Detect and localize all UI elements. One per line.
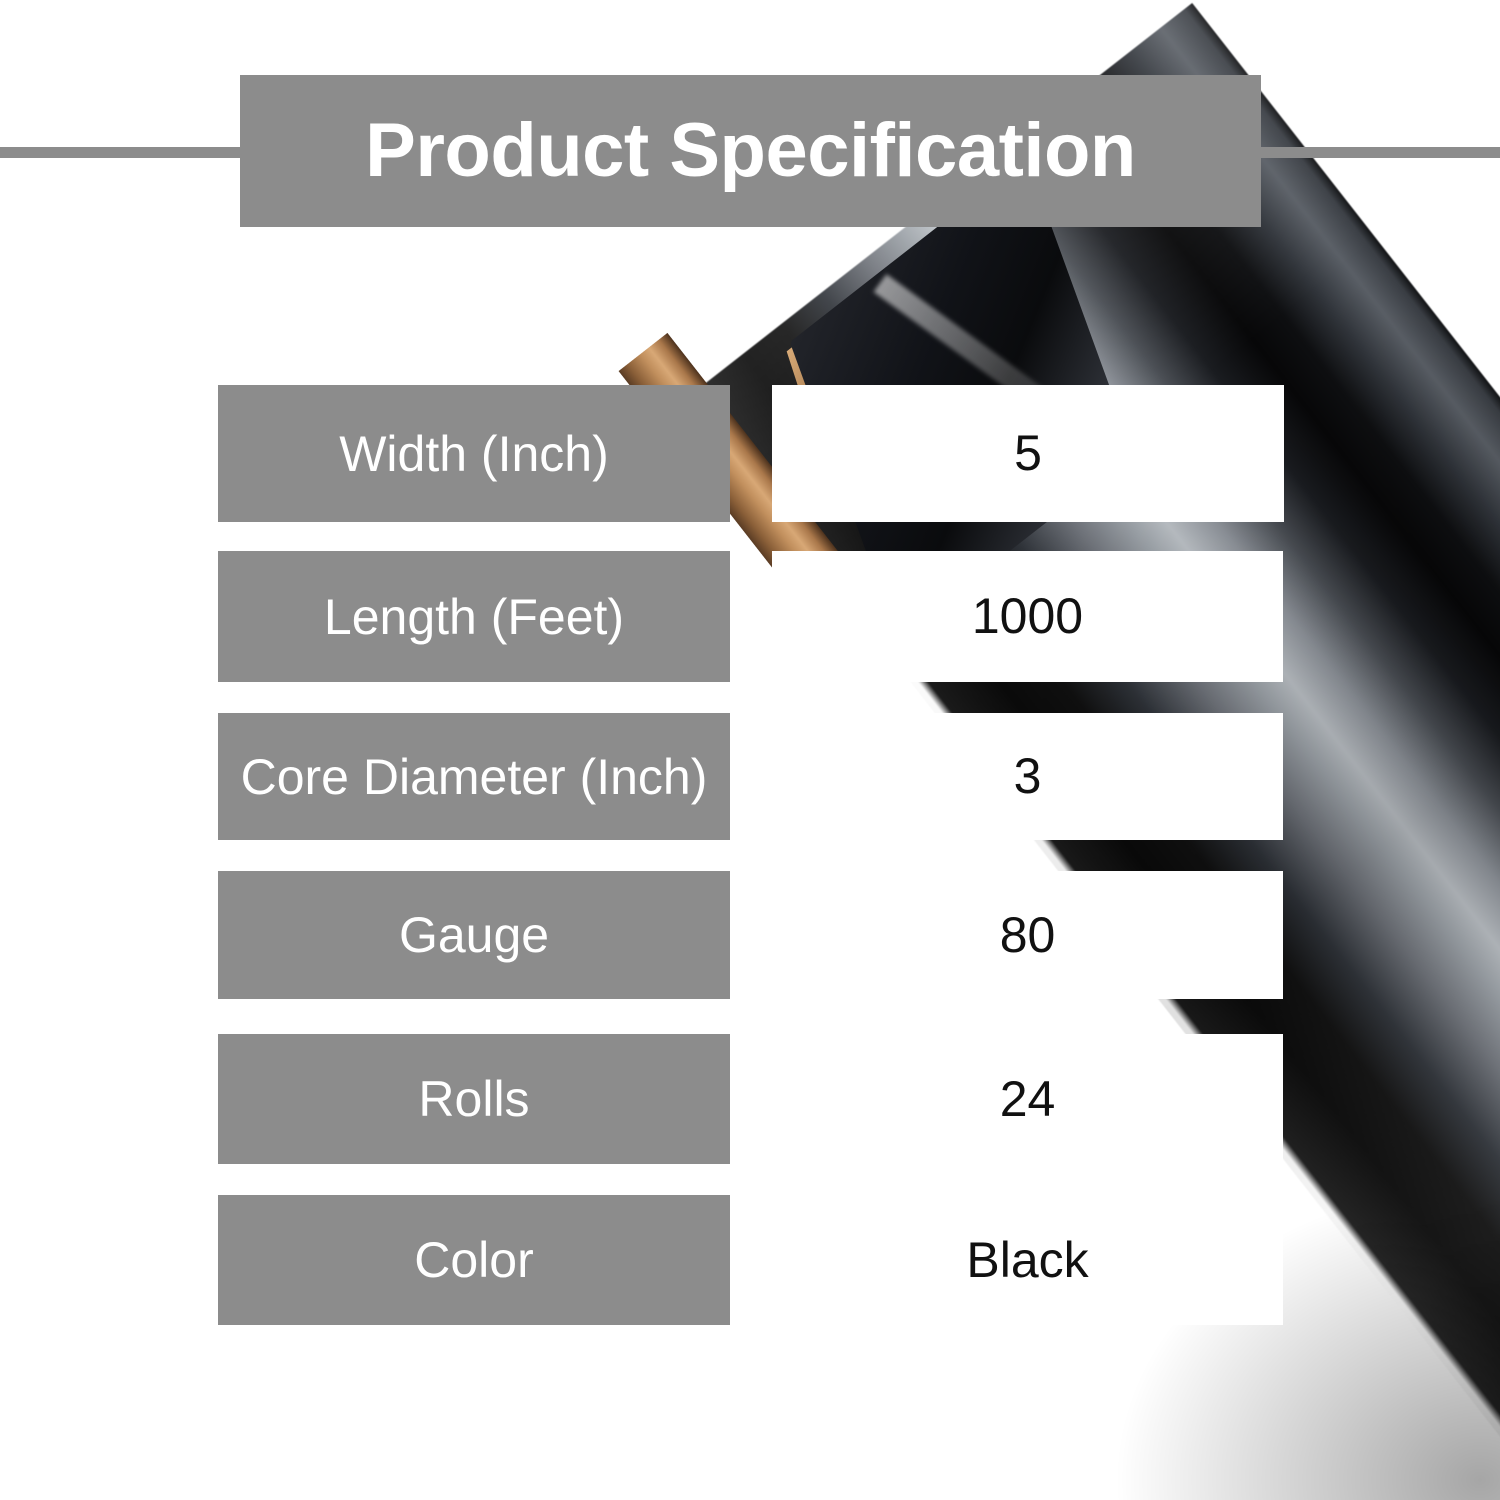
spec-value: 1000 bbox=[772, 551, 1283, 682]
infographic-canvas: Product Specification Width (Inch)5Lengt… bbox=[0, 0, 1500, 1500]
spec-value: 3 bbox=[772, 713, 1283, 840]
spec-value: 80 bbox=[772, 871, 1283, 999]
spec-value: 24 bbox=[772, 1034, 1283, 1164]
spec-label: Color bbox=[218, 1195, 730, 1325]
spec-label: Width (Inch) bbox=[218, 385, 730, 522]
specification-table: Width (Inch)5Length (Feet)1000Core Diame… bbox=[0, 0, 1500, 1500]
spec-label: Core Diameter (Inch) bbox=[218, 713, 730, 840]
spec-value: Black bbox=[772, 1195, 1283, 1325]
spec-value: 5 bbox=[772, 385, 1284, 522]
spec-label: Length (Feet) bbox=[218, 551, 730, 682]
spec-label: Gauge bbox=[218, 871, 730, 999]
spec-label: Rolls bbox=[218, 1034, 730, 1164]
